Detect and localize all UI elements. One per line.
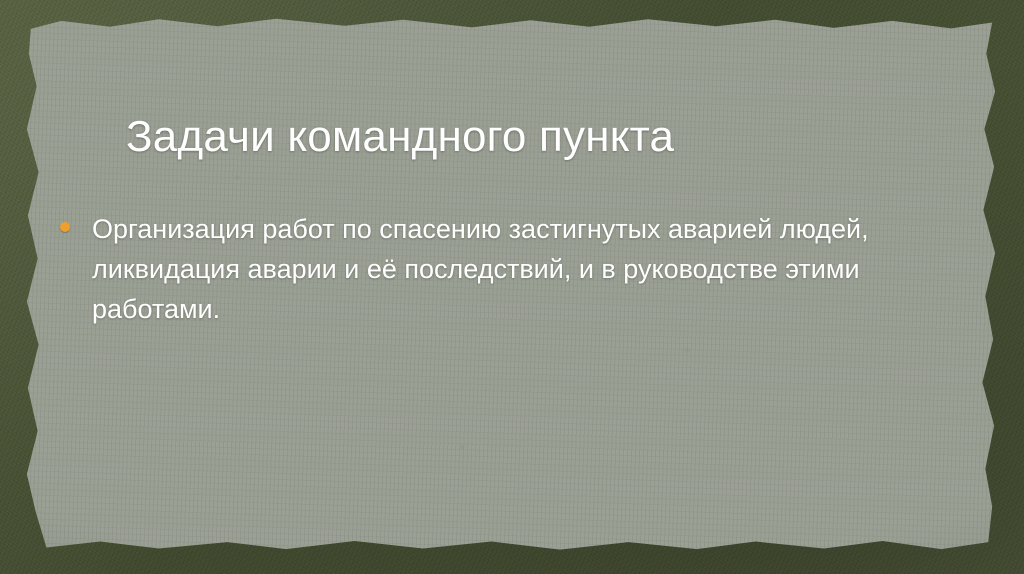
slide-body: Организация работ по спасению застигнуты… xyxy=(54,182,964,356)
bullet-item-text: Организация работ по спасению застигнуты… xyxy=(92,209,964,329)
bullet-dot-icon xyxy=(60,222,70,232)
bullet-list-item: Организация работ по спасению застигнуты… xyxy=(54,209,964,329)
slide-title: Задачи командного пункта xyxy=(126,111,926,163)
presentation-slide: Задачи командного пункта Организация раб… xyxy=(0,0,1024,574)
slide-content: Задачи командного пункта Организация раб… xyxy=(0,0,1024,574)
